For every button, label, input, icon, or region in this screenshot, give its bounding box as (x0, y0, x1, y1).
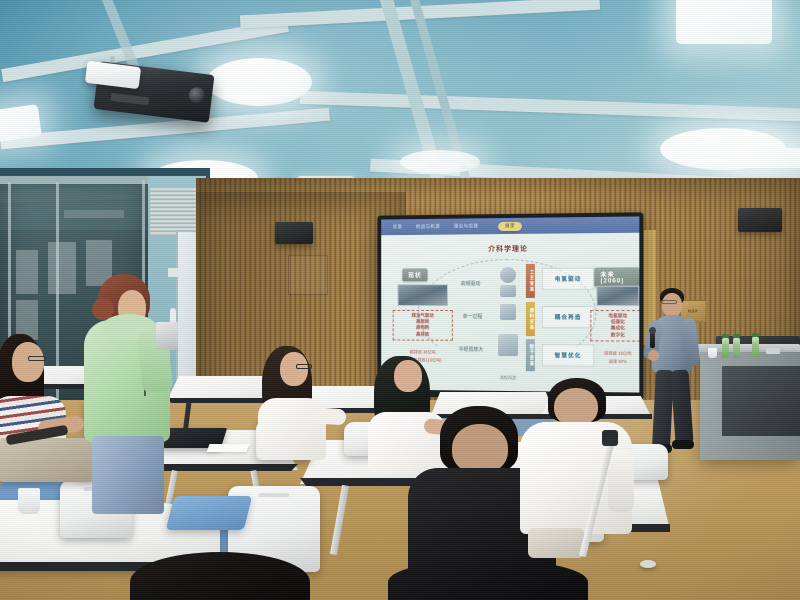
vertical-tag-1: 原料变革 (526, 302, 535, 336)
standing-student-jeans (92, 436, 164, 514)
left-block-bullets: 煤油气驱动 高能耗 高物耗 高排放 (393, 310, 453, 341)
student-white-lace (256, 346, 346, 466)
student-foreground-dark (130, 552, 310, 600)
rect-led-panel (676, 0, 772, 44)
projector-lens-icon (188, 86, 206, 104)
glasses-icon (296, 364, 312, 369)
slide-nav-tab-0[interactable]: 背景 (393, 224, 403, 230)
bottle-cap (722, 334, 729, 338)
notebook-paper (206, 444, 249, 452)
student-head (280, 352, 308, 386)
slide-nav-tab-1[interactable]: 挑战与机遇 (416, 224, 440, 230)
student-arm (608, 450, 634, 512)
process-icon (500, 285, 516, 297)
process-icon (500, 267, 516, 283)
right-block-photo (596, 286, 639, 306)
wall-poster (16, 250, 38, 294)
bottle-cap (733, 334, 740, 338)
presenter-head (662, 293, 682, 317)
right-block-bullets: 电氢驱动 低碳化 集成化 数字化 (590, 310, 639, 341)
student-head (452, 424, 508, 474)
standing-student (84, 274, 180, 524)
glasses-icon (28, 356, 46, 361)
right-card-0: 电氢驱动 (542, 268, 594, 290)
chair-handle-slot (258, 493, 289, 497)
round-led-panel (206, 58, 312, 106)
middle-label-2: 半经验放大 (459, 346, 484, 353)
process-icon (498, 334, 518, 356)
wall-speaker (738, 208, 782, 232)
concealed-wall-door[interactable] (288, 255, 328, 295)
microphone-head-icon (649, 327, 656, 334)
projector-vent (111, 93, 150, 106)
left-stat-primary: 碳排放 38亿吨 (391, 349, 455, 355)
student-arm (303, 407, 346, 426)
student-pants (528, 528, 584, 558)
left-block-header: 现状 (402, 268, 427, 281)
lectern-front-panel (722, 366, 800, 436)
water-bottle (752, 337, 759, 357)
round-led-panel (400, 150, 480, 174)
window-blinds (150, 188, 196, 236)
classroom-photo: 制度牌 背景 挑战与机遇 理论与实践 展望 介科学理论 现状 煤油气驱动 高能耗… (0, 0, 800, 600)
slide-nav-tab-2[interactable]: 理论与实践 (454, 223, 479, 229)
drink-cup[interactable] (156, 322, 178, 350)
slide-title: 介科学理论 (381, 243, 639, 255)
student-head (394, 360, 422, 392)
right-stat-secondary: 减排 60% (588, 359, 639, 366)
rect-led-panel (740, 148, 800, 168)
student-head (554, 388, 598, 426)
left-block-photo (398, 284, 448, 306)
bottle-cap (752, 333, 759, 337)
slide-nav-tab-3[interactable]: 展望 (498, 221, 522, 230)
process-icon (500, 304, 516, 320)
vertical-tag-0: 工艺变革 (526, 264, 535, 298)
vertical-tag-2: 智干变革 (526, 339, 535, 371)
presenter (640, 288, 720, 458)
mic-stand-foot (640, 560, 656, 568)
paper-cup (18, 488, 40, 514)
student-foreground-right (388, 560, 588, 600)
presenter-leg-right (670, 369, 693, 444)
student-head (12, 342, 44, 382)
water-bottle (733, 338, 740, 358)
presenter-hand (648, 350, 659, 361)
lectern-control-panel[interactable] (766, 348, 780, 354)
presenter-shoe (672, 440, 694, 449)
right-block-header: 未来(2060) (594, 267, 639, 286)
handheld-microphone[interactable] (650, 332, 655, 348)
right-bullet-3: 数字化 (595, 332, 639, 338)
right-stat-primary: 碳排放 15亿吨 (588, 350, 639, 356)
mic-stand-clip (602, 430, 618, 446)
left-bullet-3: 高排放 (398, 331, 448, 337)
middle-label-1: 单一过程 (463, 313, 483, 320)
wall-poster (48, 242, 76, 294)
student-hair (388, 560, 588, 600)
right-card-1: 耦合再造 (542, 306, 594, 328)
glasses-icon (661, 300, 677, 304)
wall-speaker (275, 222, 313, 244)
student-white-tee-right (520, 378, 640, 558)
right-card-2: 智慧优化 (542, 344, 594, 367)
water-bottle (722, 338, 729, 358)
glass-frame (0, 176, 152, 184)
middle-label-0: 高频驱动 (461, 280, 481, 287)
wall-poster (64, 210, 124, 218)
student-hair (130, 552, 310, 600)
